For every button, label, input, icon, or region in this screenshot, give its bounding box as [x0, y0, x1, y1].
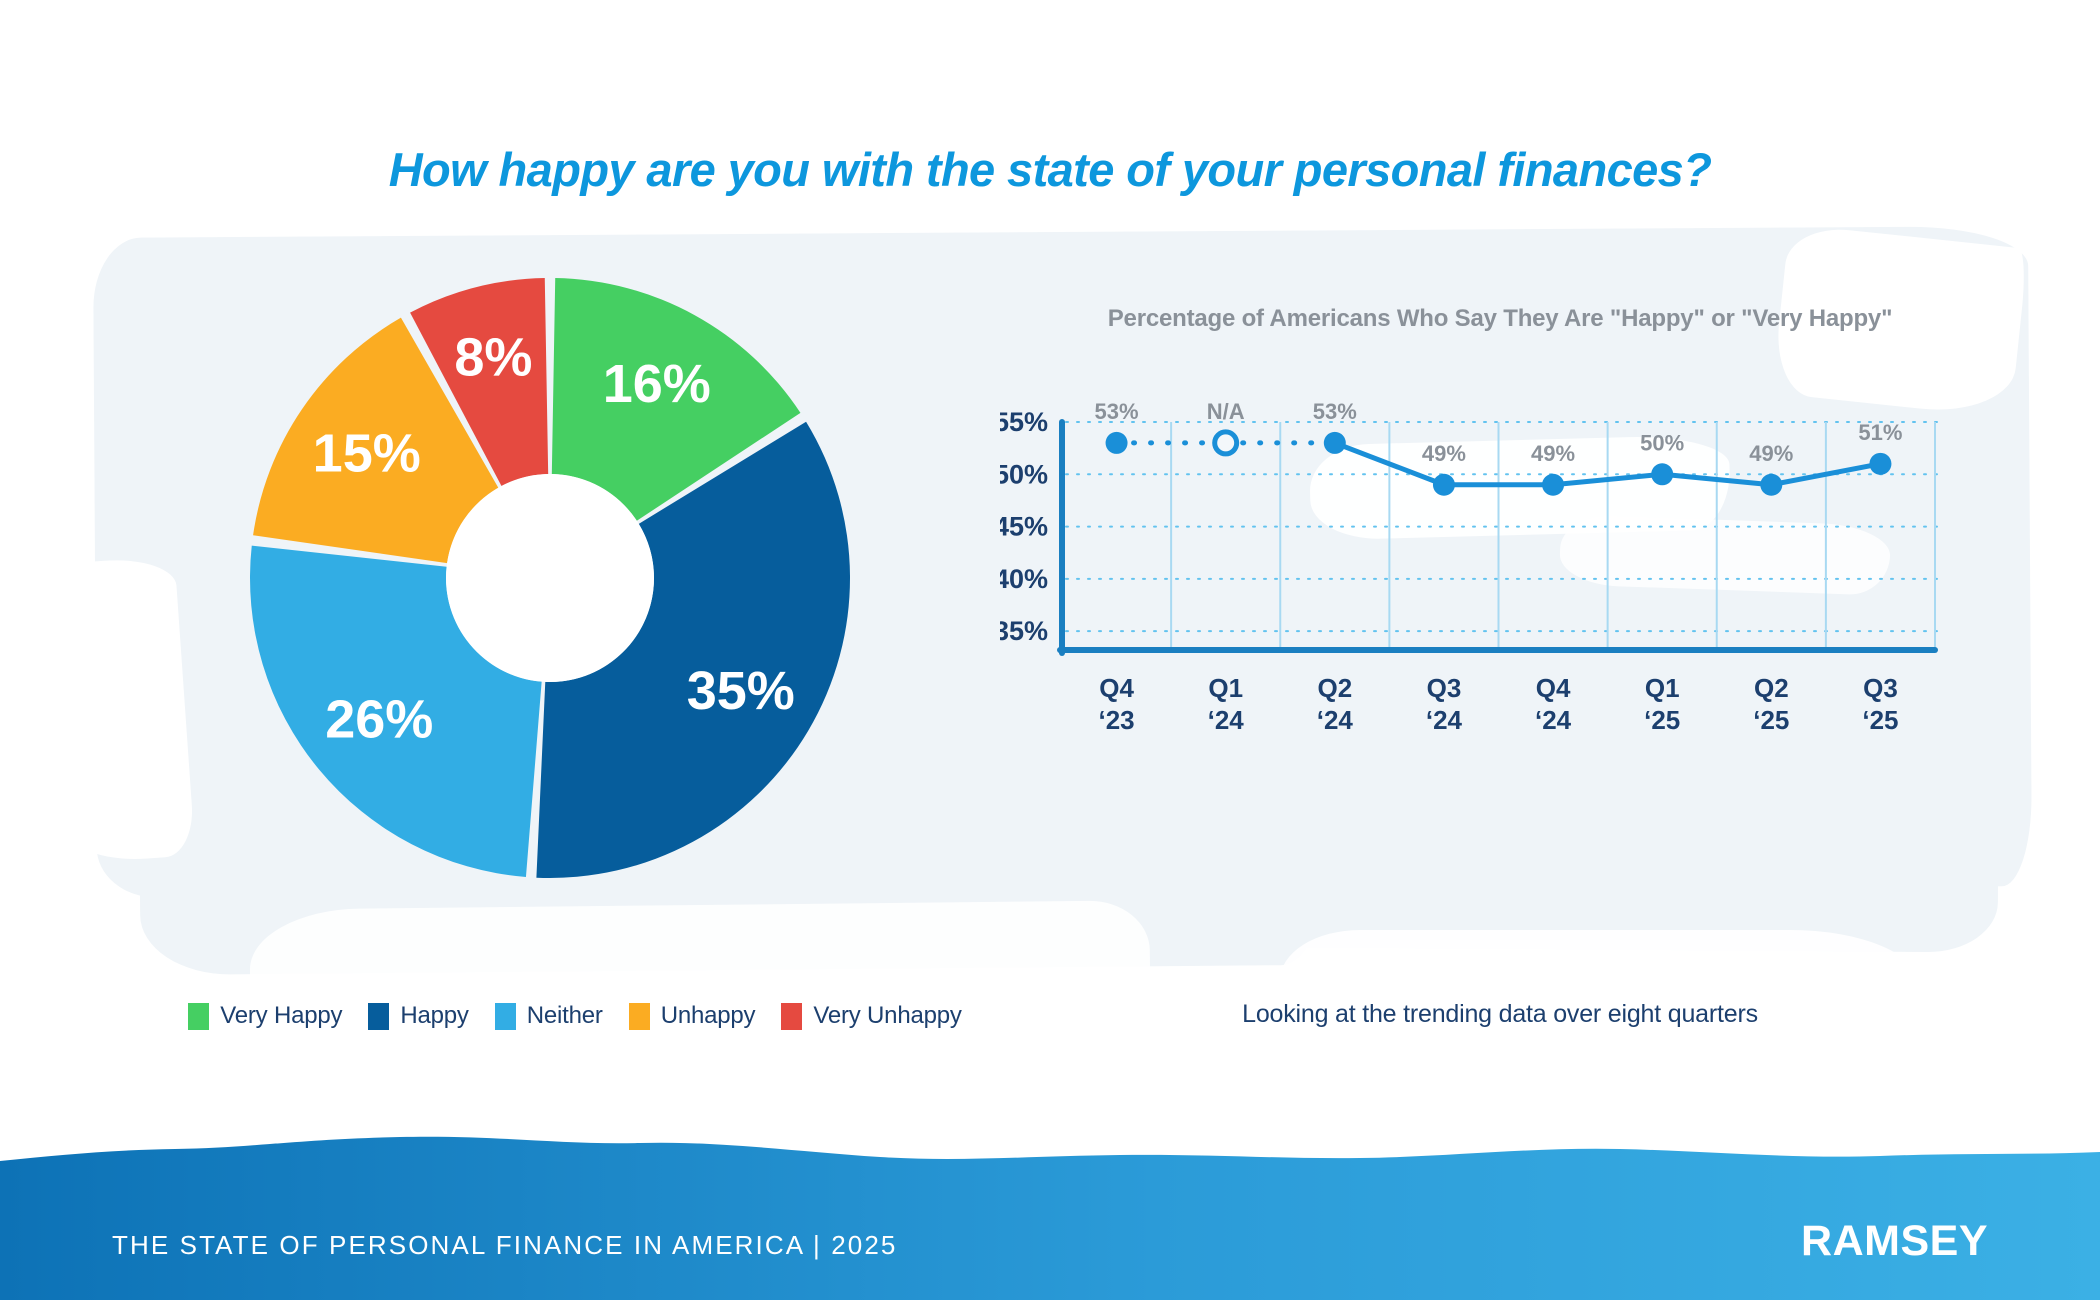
footer-title: THE STATE OF PERSONAL FINANCE IN AMERICA… — [112, 1230, 897, 1261]
legend-item-label: Happy — [400, 1002, 468, 1030]
data-point[interactable] — [1433, 474, 1455, 496]
legend-item-unhappy[interactable]: Unhappy — [629, 1002, 756, 1030]
x-axis-tick-label-quarter: Q1 — [1208, 673, 1243, 703]
legend-item-happy[interactable]: Happy — [368, 1002, 468, 1030]
data-point[interactable] — [1324, 432, 1346, 454]
legend-swatch-icon — [368, 1003, 389, 1030]
donut-chart-svg: 16%35%26%15%8% — [240, 268, 860, 888]
x-axis-tick-label-year: ‘25 — [1862, 705, 1898, 735]
legend-item-very-unhappy[interactable]: Very Unhappy — [781, 1002, 961, 1030]
line-chart-horizontal-gridlines — [1066, 422, 1940, 631]
footer-bar: THE STATE OF PERSONAL FINANCE IN AMERICA… — [0, 1125, 2100, 1300]
x-axis-tick-label-quarter: Q2 — [1317, 673, 1352, 703]
x-axis-tick-label-quarter: Q2 — [1754, 673, 1789, 703]
x-axis-tick-label-year: ‘25 — [1644, 705, 1680, 735]
x-axis-tick-label-year: ‘24 — [1208, 705, 1245, 735]
data-point[interactable] — [1542, 474, 1564, 496]
data-point-label: 51% — [1858, 420, 1902, 445]
data-point[interactable] — [1869, 453, 1891, 475]
y-axis-tick-label: 45% — [1000, 512, 1048, 542]
line-chart-svg: 55%50%45%40%35% 53%N/A53%49%49%50%49%51%… — [1000, 400, 1960, 900]
legend-item-very-happy[interactable]: Very Happy — [188, 1002, 342, 1030]
donut-slice-label-happy: 35% — [687, 661, 795, 721]
line-chart-title: Percentage of Americans Who Say They Are… — [1040, 305, 1960, 333]
x-axis-tick-label-quarter: Q4 — [1099, 673, 1134, 703]
x-axis-tick-label-year: ‘24 — [1535, 705, 1572, 735]
legend-swatch-icon — [188, 1003, 209, 1030]
x-axis-tick-label-quarter: Q3 — [1863, 673, 1898, 703]
donut-chart: 16%35%26%15%8% — [240, 268, 860, 888]
data-point-label: 53% — [1095, 400, 1139, 424]
donut-slice-label-neither: 26% — [325, 689, 433, 749]
y-axis-tick-label: 35% — [1000, 616, 1048, 646]
y-axis-tick-label: 50% — [1000, 459, 1048, 489]
background-wash-notch-left — [45, 556, 196, 864]
x-axis-tick-label-quarter: Q1 — [1645, 673, 1680, 703]
legend-item-neither[interactable]: Neither — [495, 1002, 603, 1030]
y-axis-tick-label: 40% — [1000, 564, 1048, 594]
x-axis-tick-label-year: ‘25 — [1753, 705, 1789, 735]
line-chart-caption: Looking at the trending data over eight … — [1040, 1000, 1960, 1029]
line-chart: 55%50%45%40%35% 53%N/A53%49%49%50%49%51%… — [1000, 400, 1960, 900]
data-point-missing[interactable] — [1215, 432, 1237, 454]
data-point[interactable] — [1760, 474, 1782, 496]
footer-background — [0, 1125, 2100, 1300]
y-axis-tick-label: 55% — [1000, 407, 1048, 437]
legend-item-label: Neither — [527, 1002, 603, 1030]
donut-slice-label-very-happy: 16% — [603, 354, 711, 414]
donut-legend: Very HappyHappyNeitherUnhappyVery Unhapp… — [155, 1002, 995, 1030]
legend-item-label: Unhappy — [661, 1002, 756, 1030]
x-axis-tick-label-year: ‘24 — [1317, 705, 1354, 735]
data-point-label: 49% — [1422, 441, 1466, 466]
donut-center-hole — [446, 474, 654, 682]
data-point-label: 53% — [1313, 400, 1357, 424]
x-axis-tick-label-year: ‘24 — [1426, 705, 1463, 735]
legend-swatch-icon — [495, 1003, 516, 1030]
line-chart-x-tick-labels: Q4‘23Q1‘24Q2‘24Q3‘24Q4‘24Q1‘25Q2‘25Q3‘25 — [1098, 673, 1898, 735]
x-axis-tick-label-year: ‘23 — [1098, 705, 1134, 735]
legend-swatch-icon — [629, 1003, 650, 1030]
donut-slice-label-very-unhappy: 8% — [454, 328, 532, 388]
data-point-label: N/A — [1207, 400, 1245, 424]
x-axis-tick-label-quarter: Q4 — [1536, 673, 1571, 703]
line-chart-y-tick-labels: 55%50%45%40%35% — [1000, 407, 1048, 646]
legend-swatch-icon — [781, 1003, 802, 1030]
data-point-label: 49% — [1531, 441, 1575, 466]
data-point[interactable] — [1106, 432, 1128, 454]
legend-item-label: Very Happy — [220, 1002, 342, 1030]
donut-slice-label-unhappy: 15% — [313, 423, 421, 483]
x-axis-tick-label-quarter: Q3 — [1427, 673, 1462, 703]
page-title: How happy are you with the state of your… — [0, 142, 2100, 197]
ramsey-logo: RAMSEY — [1801, 1217, 1988, 1266]
legend-item-label: Very Unhappy — [813, 1002, 961, 1030]
data-point-label: 50% — [1640, 430, 1684, 455]
data-point[interactable] — [1651, 463, 1673, 485]
data-point-label: 49% — [1749, 441, 1793, 466]
